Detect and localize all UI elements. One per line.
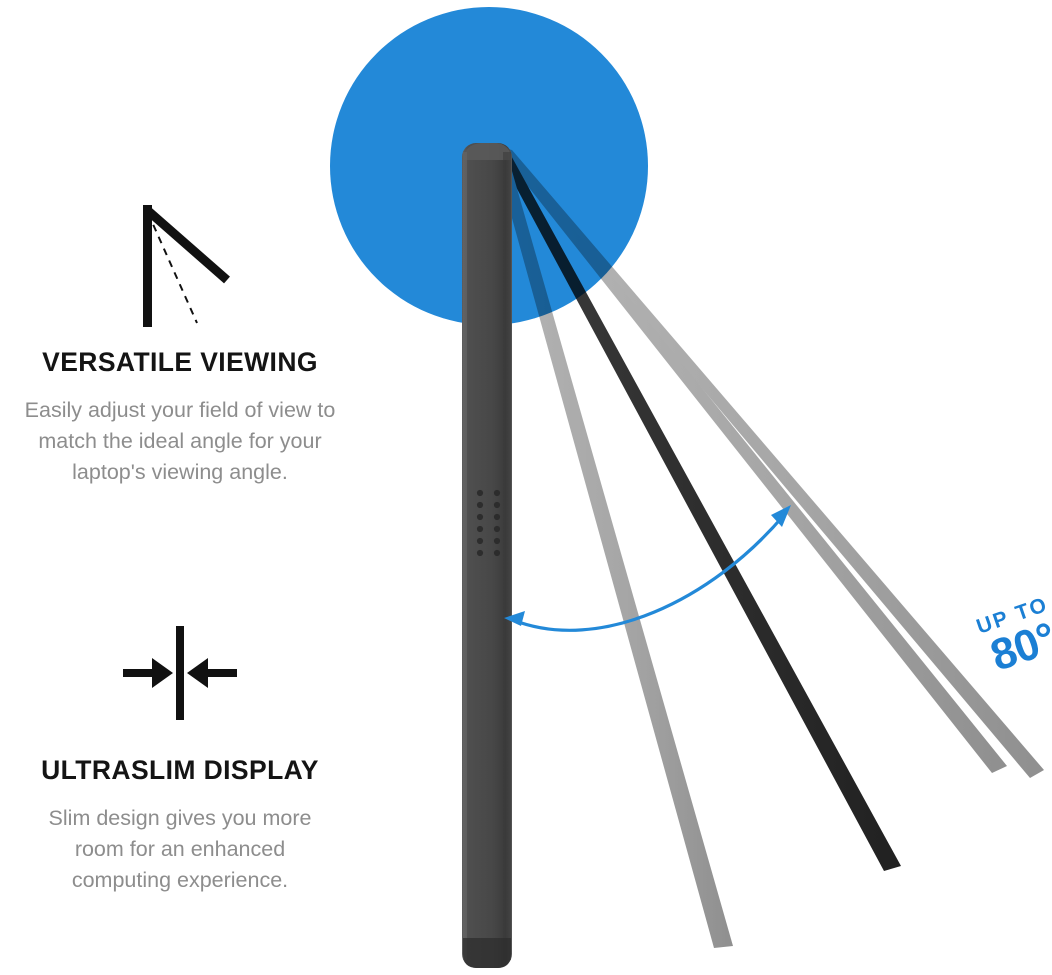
feature-body-line: Slim design gives you more — [15, 803, 345, 834]
kickstand-leg-1 — [492, 146, 733, 948]
kickstand-leg-3 — [496, 146, 1007, 773]
infographic-canvas: VERSATILE VIEWING Easily adjust your fie… — [0, 0, 1052, 975]
kickstand-leg-2 — [494, 146, 901, 871]
feature-body-line: room for an enhanced — [15, 834, 345, 865]
feature-body-line: computing experience. — [15, 865, 345, 896]
monitor-body-side-profile — [462, 143, 512, 968]
feature-body: Slim design gives you more room for an e… — [15, 803, 345, 897]
angle-range-arc — [513, 515, 784, 630]
angle-arrow-head-right — [771, 505, 791, 527]
portable-monitor-side-view: UP TO 80° — [300, 0, 1052, 975]
